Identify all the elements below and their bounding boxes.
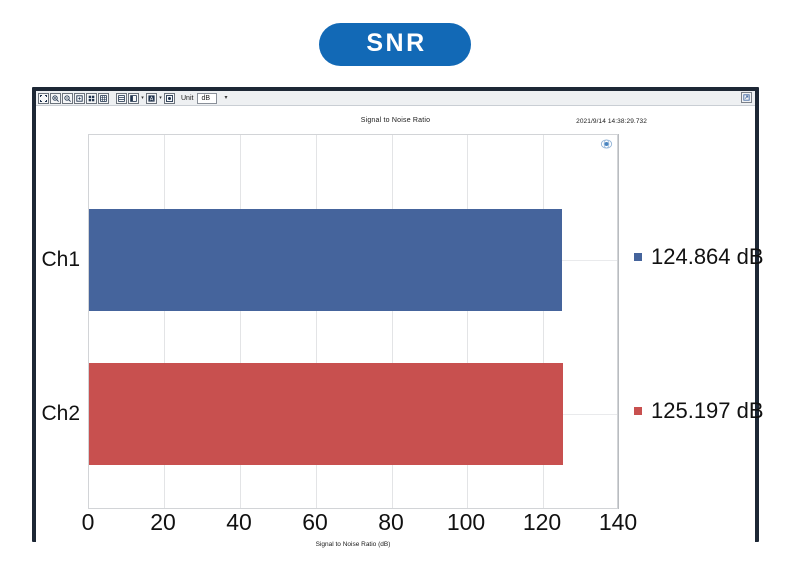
text-format-icon[interactable]: A — [146, 93, 157, 104]
text-dropdown-caret-icon[interactable]: ▾ — [158, 93, 163, 104]
axis-divider — [618, 134, 619, 509]
pan-icon[interactable] — [74, 93, 85, 104]
chart-area: Signal to Noise Ratio 2021/9/14 14:38:29… — [36, 106, 755, 543]
value-readout-panel: 124.864 dB 125.197 dB — [634, 134, 752, 509]
snr-badge: SNR — [319, 23, 470, 66]
zoom-in-icon[interactable] — [50, 93, 61, 104]
unit-select[interactable]: dB — [197, 93, 217, 104]
xtick-20: 20 — [150, 511, 176, 534]
bar-ch1[interactable] — [89, 209, 562, 311]
layout-dropdown-caret-icon[interactable]: ▾ — [140, 93, 145, 104]
snr-badge-container: SNR — [0, 23, 790, 66]
legend-swatch-ch1 — [634, 253, 642, 261]
chart-title: Signal to Noise Ratio — [36, 117, 755, 124]
bar-ch2[interactable] — [89, 363, 563, 465]
grid-dense-icon[interactable] — [98, 93, 109, 104]
toolbar-separator-1 — [110, 93, 115, 104]
xtick-0: 0 — [82, 511, 95, 534]
readout-row-ch2: 125.197 dB — [634, 400, 752, 422]
unit-label: Unit — [181, 95, 193, 102]
svg-text:A: A — [150, 96, 154, 102]
layout-rows-icon[interactable] — [116, 93, 127, 104]
readout-row-ch1: 124.864 dB — [634, 246, 752, 268]
chart-toolbar: ▾ A ▾ Unit dB ▾ — [36, 91, 755, 106]
category-label-ch2: Ch2 — [41, 403, 80, 424]
xtick-40: 40 — [226, 511, 252, 534]
screenshot-root: SNR — [0, 0, 790, 579]
xtick-140: 140 — [599, 511, 637, 534]
plot-area — [88, 134, 618, 509]
readout-value-ch1: 124.864 dB — [651, 246, 764, 268]
vendor-watermark-icon — [600, 138, 613, 150]
chart-timestamp: 2021/9/14 14:38:29.732 — [576, 118, 647, 125]
zoom-fit-icon[interactable] — [38, 93, 49, 104]
readout-value-ch2: 125.197 dB — [651, 400, 764, 422]
xtick-60: 60 — [302, 511, 328, 534]
measurement-window: ▾ A ▾ Unit dB ▾ Signal to Noise Ratio 20… — [32, 87, 759, 542]
settings-target-icon[interactable] — [164, 93, 175, 104]
legend-swatch-ch2 — [634, 407, 642, 415]
grid-icon[interactable] — [86, 93, 97, 104]
category-label-ch1: Ch1 — [41, 249, 80, 270]
unit-select-value: dB — [201, 95, 210, 102]
xaxis-title: Signal to Noise Ratio (dB) — [88, 541, 618, 548]
xtick-100: 100 — [447, 511, 485, 534]
xtick-80: 80 — [378, 511, 404, 534]
unit-dropdown-caret-icon[interactable]: ▾ — [224, 95, 227, 101]
value-axis: 0 20 40 60 80 100 120 140 Signal to Nois… — [88, 509, 618, 543]
xtick-120: 120 — [523, 511, 561, 534]
export-icon[interactable] — [741, 92, 752, 103]
zoom-out-icon[interactable] — [62, 93, 73, 104]
layout-split-icon[interactable] — [128, 93, 139, 104]
category-axis: Ch1 Ch2 — [36, 134, 88, 509]
